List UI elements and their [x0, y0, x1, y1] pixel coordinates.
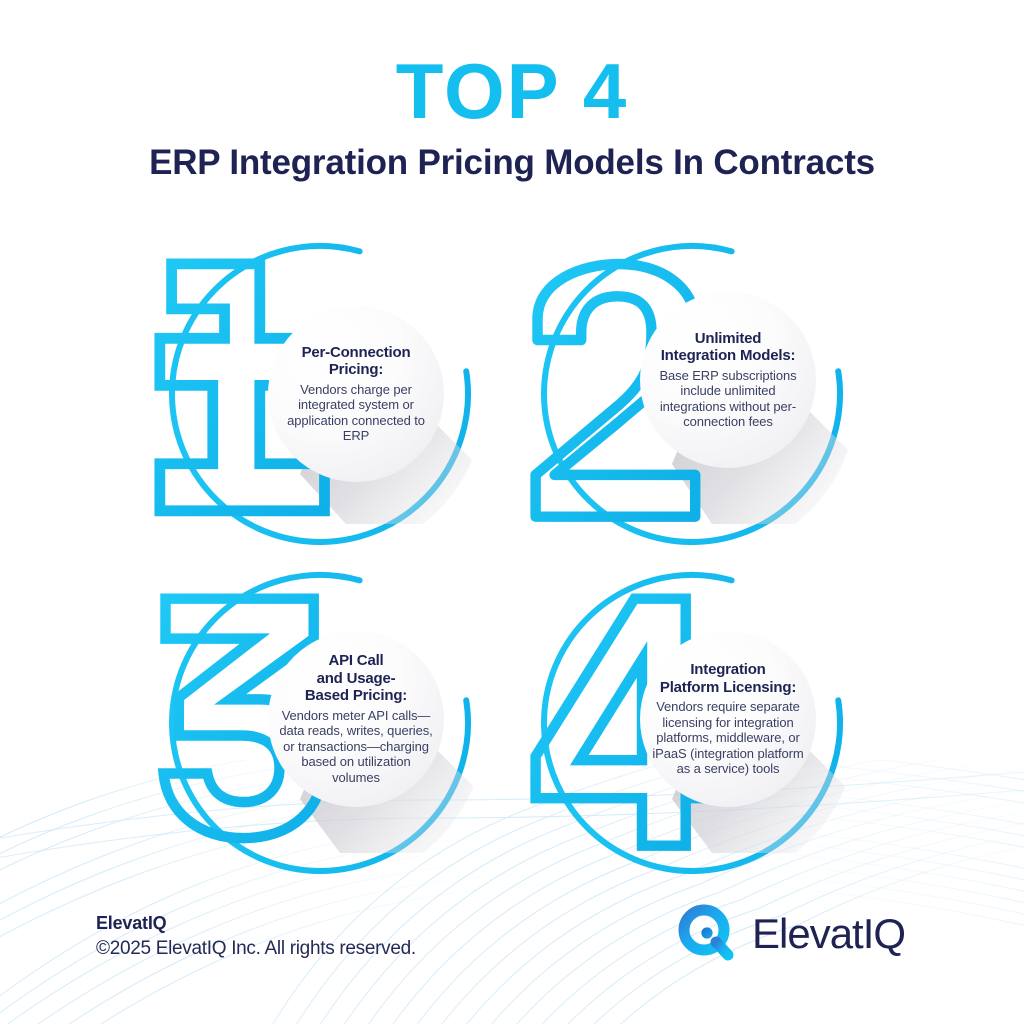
footer-brand-name: ElevatIQ — [96, 912, 416, 935]
card-4-body: Vendors require separate licensing for i… — [648, 699, 808, 777]
card-3[interactable]: API Call and Usage- Based Pricing: Vendo… — [150, 553, 490, 893]
elevatiq-q-logo-icon — [676, 902, 740, 966]
header: TOP 4 ERP Integration Pricing Models In … — [0, 52, 1024, 183]
card-1-title: Per-Connection Pricing: — [302, 344, 411, 379]
page-eyebrow: TOP 4 — [0, 52, 1024, 130]
infographic-canvas: TOP 4 ERP Integration Pricing Models In … — [0, 0, 1024, 1024]
card-3-bubble: API Call and Usage- Based Pricing: Vendo… — [268, 631, 444, 807]
page-title: ERP Integration Pricing Models In Contra… — [0, 144, 1024, 183]
card-1-bubble: Per-Connection Pricing: Vendors charge p… — [268, 306, 444, 482]
logo-wordmark: ElevatIQ — [752, 913, 905, 955]
card-2-title: Unlimited Integration Models: — [661, 330, 796, 365]
card-4-title: Integration Platform Licensing: — [660, 661, 796, 696]
card-3-title: API Call and Usage- Based Pricing: — [305, 652, 407, 704]
card-4-bubble: Integration Platform Licensing: Vendors … — [640, 631, 816, 807]
card-1-body: Vendors charge per integrated system or … — [276, 382, 436, 444]
card-2-bubble: Unlimited Integration Models: Base ERP s… — [640, 292, 816, 468]
card-3-body: Vendors meter API calls—data reads, writ… — [276, 708, 436, 786]
card-4[interactable]: Integration Platform Licensing: Vendors … — [522, 553, 862, 893]
footer-logo[interactable]: ElevatIQ — [676, 902, 905, 966]
card-2-body: Base ERP subscriptions include unlimited… — [648, 368, 808, 430]
card-1[interactable]: Per-Connection Pricing: Vendors charge p… — [150, 224, 490, 564]
card-2[interactable]: Unlimited Integration Models: Base ERP s… — [522, 224, 862, 564]
footer-credits: ElevatIQ ©2025 ElevatIQ Inc. All rights … — [96, 912, 416, 960]
footer-copyright: ©2025 ElevatIQ Inc. All rights reserved. — [96, 937, 416, 961]
